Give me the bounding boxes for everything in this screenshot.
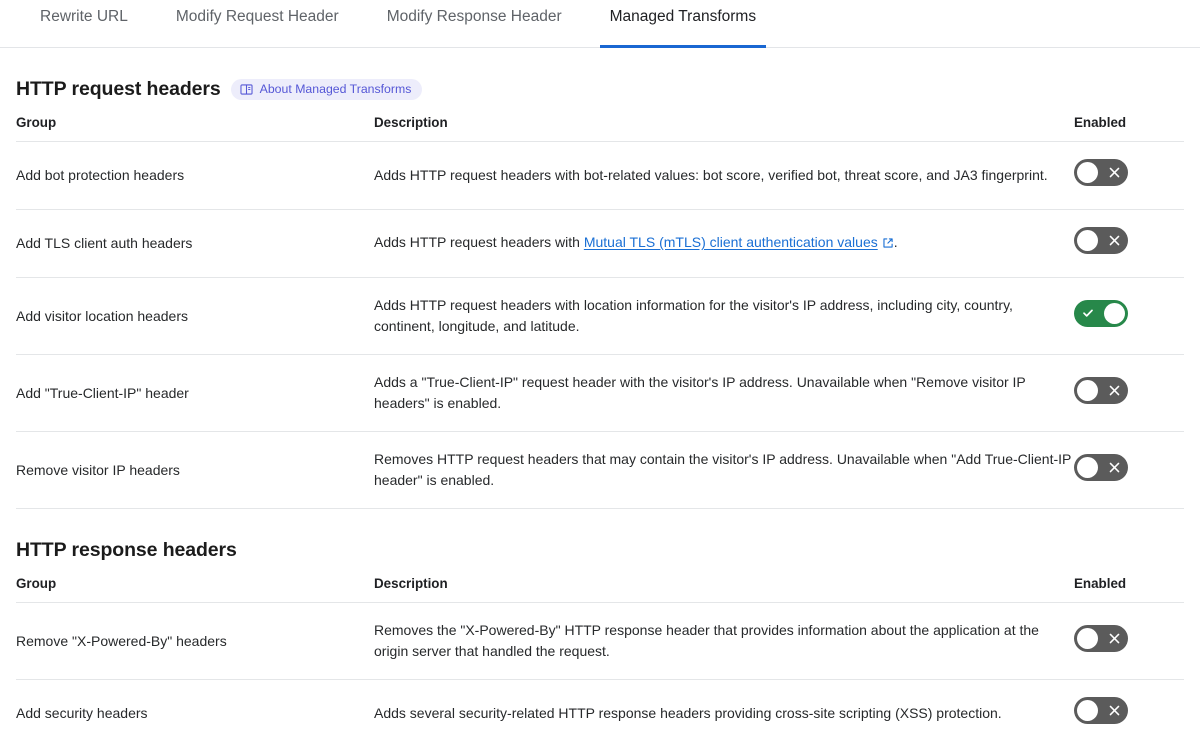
- row-description: Adds HTTP request headers with location …: [374, 278, 1074, 355]
- tab-modify-response-header[interactable]: Modify Response Header: [363, 0, 586, 48]
- book-icon: [240, 83, 253, 96]
- toggle-add-visitor-location-headers[interactable]: [1074, 300, 1128, 327]
- table-header-row: Group Description Enabled: [16, 570, 1184, 603]
- section-header: HTTP response headers: [16, 509, 1184, 570]
- row-group-name: Add bot protection headers: [16, 142, 374, 210]
- row-group-name: Add TLS client auth headers: [16, 210, 374, 278]
- close-icon: [1109, 625, 1120, 652]
- tab-label: Managed Transforms: [610, 8, 756, 25]
- table-body: Add bot protection headers Adds HTTP req…: [16, 142, 1184, 509]
- toggle-remove-visitor-ip-headers[interactable]: [1074, 454, 1128, 481]
- table-row: Remove "X-Powered-By" headers Removes th…: [16, 603, 1184, 680]
- column-header-enabled: Enabled: [1074, 109, 1184, 142]
- close-icon: [1109, 227, 1120, 254]
- table-body: Remove "X-Powered-By" headers Removes th…: [16, 603, 1184, 742]
- row-enabled-cell: [1074, 680, 1184, 742]
- row-enabled-cell: [1074, 210, 1184, 278]
- toggle-knob: [1077, 628, 1098, 649]
- row-group-name: Remove visitor IP headers: [16, 432, 374, 509]
- row-description: Removes HTTP request headers that may co…: [374, 432, 1074, 509]
- table-head: Group Description Enabled: [16, 570, 1184, 603]
- section-header: HTTP request headers About Managed Trans…: [16, 48, 1184, 109]
- row-description-prefix: Adds HTTP request headers with: [374, 234, 584, 250]
- toggle-knob: [1077, 230, 1098, 251]
- about-managed-transforms-label: About Managed Transforms: [260, 82, 412, 97]
- toggle-knob: [1077, 700, 1098, 721]
- column-header-enabled: Enabled: [1074, 570, 1184, 603]
- request-headers-table: Group Description Enabled Add bot protec…: [16, 109, 1184, 509]
- column-header-group: Group: [16, 109, 374, 142]
- toggle-add-tls-client-auth-headers[interactable]: [1074, 227, 1128, 254]
- tab-label: Modify Response Header: [387, 8, 562, 25]
- toggle-add-bot-protection-headers[interactable]: [1074, 159, 1128, 186]
- row-enabled-cell: [1074, 355, 1184, 432]
- table-head: Group Description Enabled: [16, 109, 1184, 142]
- tab-label: Rewrite URL: [40, 8, 128, 25]
- table-row: Add bot protection headers Adds HTTP req…: [16, 142, 1184, 210]
- table-row: Remove visitor IP headers Removes HTTP r…: [16, 432, 1184, 509]
- row-group-name: Add visitor location headers: [16, 278, 374, 355]
- table-row: Add security headers Adds several securi…: [16, 680, 1184, 742]
- row-enabled-cell: [1074, 432, 1184, 509]
- external-link-icon: [882, 234, 894, 255]
- section-http-response-headers: HTTP response headers Group Description …: [16, 509, 1184, 742]
- row-group-name: Add "True-Client-IP" header: [16, 355, 374, 432]
- row-enabled-cell: [1074, 142, 1184, 210]
- tab-bar: Rewrite URL Modify Request Header Modify…: [0, 0, 1200, 48]
- column-header-description: Description: [374, 109, 1074, 142]
- close-icon: [1109, 454, 1120, 481]
- row-group-name: Add security headers: [16, 680, 374, 742]
- section-title: HTTP request headers: [16, 78, 221, 101]
- section-title: HTTP response headers: [16, 539, 237, 562]
- mtls-docs-link[interactable]: Mutual TLS (mTLS) client authentication …: [584, 234, 878, 250]
- tab-list: Rewrite URL Modify Request Header Modify…: [16, 0, 1200, 47]
- row-description: Removes the "X-Powered-By" HTTP response…: [374, 603, 1074, 680]
- row-description: Adds a "True-Client-IP" request header w…: [374, 355, 1074, 432]
- tab-modify-request-header[interactable]: Modify Request Header: [152, 0, 363, 48]
- page-content: HTTP request headers About Managed Trans…: [0, 48, 1200, 742]
- about-managed-transforms-link[interactable]: About Managed Transforms: [231, 79, 423, 100]
- toggle-add-security-headers[interactable]: [1074, 697, 1128, 724]
- table-header-row: Group Description Enabled: [16, 109, 1184, 142]
- tab-managed-transforms[interactable]: Managed Transforms: [586, 0, 780, 48]
- close-icon: [1109, 159, 1120, 186]
- row-group-name: Remove "X-Powered-By" headers: [16, 603, 374, 680]
- row-enabled-cell: [1074, 278, 1184, 355]
- close-icon: [1109, 697, 1120, 724]
- row-description: Adds several security-related HTTP respo…: [374, 680, 1074, 742]
- section-http-request-headers: HTTP request headers About Managed Trans…: [16, 48, 1184, 509]
- column-header-description: Description: [374, 570, 1074, 603]
- toggle-remove-x-powered-by-headers[interactable]: [1074, 625, 1128, 652]
- check-icon: [1082, 300, 1094, 327]
- tab-rewrite-url[interactable]: Rewrite URL: [16, 0, 152, 48]
- toggle-knob: [1104, 303, 1125, 324]
- row-description: Adds HTTP request headers with Mutual TL…: [374, 210, 1074, 278]
- table-row: Add TLS client auth headers Adds HTTP re…: [16, 210, 1184, 278]
- row-description-suffix: .: [894, 234, 898, 250]
- row-enabled-cell: [1074, 603, 1184, 680]
- column-header-group: Group: [16, 570, 374, 603]
- table-row: Add "True-Client-IP" header Adds a "True…: [16, 355, 1184, 432]
- toggle-knob: [1077, 457, 1098, 478]
- close-icon: [1109, 377, 1120, 404]
- toggle-knob: [1077, 380, 1098, 401]
- response-headers-table: Group Description Enabled Remove "X-Powe…: [16, 570, 1184, 742]
- table-row: Add visitor location headers Adds HTTP r…: [16, 278, 1184, 355]
- toggle-add-true-client-ip-header[interactable]: [1074, 377, 1128, 404]
- toggle-knob: [1077, 162, 1098, 183]
- row-description: Adds HTTP request headers with bot-relat…: [374, 142, 1074, 210]
- tab-label: Modify Request Header: [176, 8, 339, 25]
